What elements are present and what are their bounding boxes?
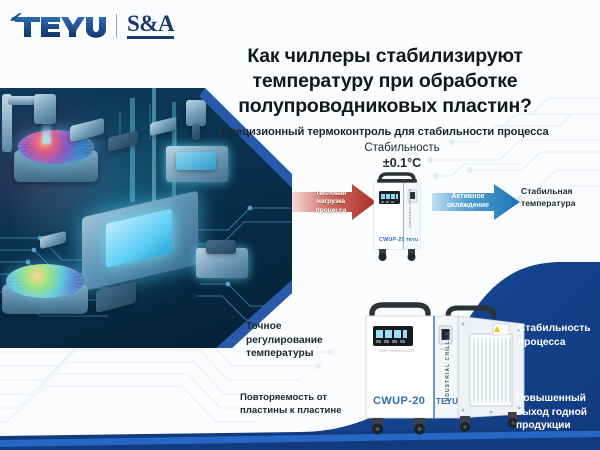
stable-temp-line-2: температура (521, 198, 575, 208)
industrial-chiller-icon: TEMP CONTROLLER ON OFF INDUSTRIAL CHILLE… (356, 300, 536, 440)
feature-tr-line-2: процесса (518, 337, 566, 348)
stable-temperature-result: Стабильная температура (521, 186, 599, 209)
laser-beam-upper (42, 122, 51, 144)
logo-divider (116, 14, 117, 38)
active-cooling-line-1: Активное (452, 193, 485, 200)
page-subtitle: Прецизионный термоконтроль для стабильно… (176, 126, 594, 138)
mini-chiller-icon: CWUP-20 TEYU INDUSTRIAL CHILLER (366, 172, 428, 262)
active-cooling-arrow-label: Активное охлаждение (438, 192, 498, 210)
heat-load-line-1: Тепловая (316, 190, 347, 197)
stable-temp-line-1: Стабильная (521, 186, 573, 196)
heat-load-line-2: нагрузка (317, 198, 345, 205)
sa-logo: S&A (127, 13, 174, 39)
feature-process-stability: Стабильность процесса (518, 322, 600, 349)
feature-br-line-2: выход годной (516, 407, 587, 418)
teyu-logo (10, 13, 106, 39)
heat-load-line-3: процесса (316, 207, 347, 214)
svg-text:CWUP-20: CWUP-20 (379, 237, 405, 243)
feature-tl-line-1: Точное (246, 321, 282, 332)
heat-load-arrow-label: Тепловая нагрузка процесса (304, 190, 358, 215)
feature-higher-yield: Повышенный выход годной продукции (516, 392, 600, 433)
svg-text:TEYU: TEYU (406, 237, 419, 242)
stability-value-text: ±0.1°C (348, 156, 456, 172)
brand-logo-bar: S&A (10, 12, 174, 40)
teyu-logo-icon (10, 13, 106, 39)
feature-tl-line-3: температуры (246, 348, 313, 359)
chiller-brand-text: TEYU (436, 397, 458, 406)
inspection-module-screen (176, 152, 216, 170)
feature-tl-line-2: регулирование (246, 335, 323, 346)
feature-tr-line-1: Стабильность (518, 323, 590, 334)
stability-label-text: Стабильность (364, 142, 439, 154)
industrial-chiller-unit: TEMP CONTROLLER ON OFF INDUSTRIAL CHILLE… (356, 300, 536, 440)
sa-logo-underline (127, 36, 174, 39)
feature-precise-temp-control: Точное регулирование температуры (246, 320, 356, 361)
feature-bl-line-2: пластины к пластине (240, 405, 342, 416)
title-line-1: Как чиллеры стабилизируют (247, 45, 522, 67)
feature-wafer-repeatability: Повторяемость от пластины к пластине (240, 392, 380, 418)
infographic-canvas: S&A Как чиллеры стабилизируют температур… (0, 0, 600, 450)
cpu-chip-core (106, 209, 172, 268)
chip-block-e (206, 240, 236, 254)
title-line-3: полупроводниковых пластин? (238, 95, 532, 117)
active-cooling-line-2: охлаждение (447, 202, 489, 209)
heat-load-arrow: Тепловая нагрузка процесса (292, 182, 376, 222)
stability-callout: Стабильность ±0.1°C (348, 141, 456, 172)
svg-text:INDUSTRIAL CHILLER: INDUSTRIAL CHILLER (408, 188, 412, 228)
page-title-block: Как чиллеры стабилизируют температуру пр… (176, 44, 594, 138)
chiller-vertical-text: INDUSTRIAL CHILLER (445, 331, 451, 404)
feature-bl-line-1: Повторяемость от (240, 392, 327, 403)
display-caption: TEMP CONTROLLER (378, 349, 414, 353)
wafer-disc-lower (6, 264, 84, 298)
mini-chiller-unit: CWUP-20 TEYU INDUSTRIAL CHILLER (366, 172, 428, 262)
chiller-model-text: CWUP-20 (373, 395, 425, 407)
active-cooling-arrow: Активное охлаждение (432, 182, 520, 222)
robot-arm-head (34, 94, 56, 124)
page-title: Как чиллеры стабилизируют температуру пр… (176, 44, 594, 118)
sa-logo-text: S&A (127, 13, 174, 35)
feature-br-line-3: продукции (516, 420, 571, 431)
title-line-2: температуру при обработке (253, 70, 518, 92)
feature-br-line-1: Повышенный (516, 393, 586, 404)
